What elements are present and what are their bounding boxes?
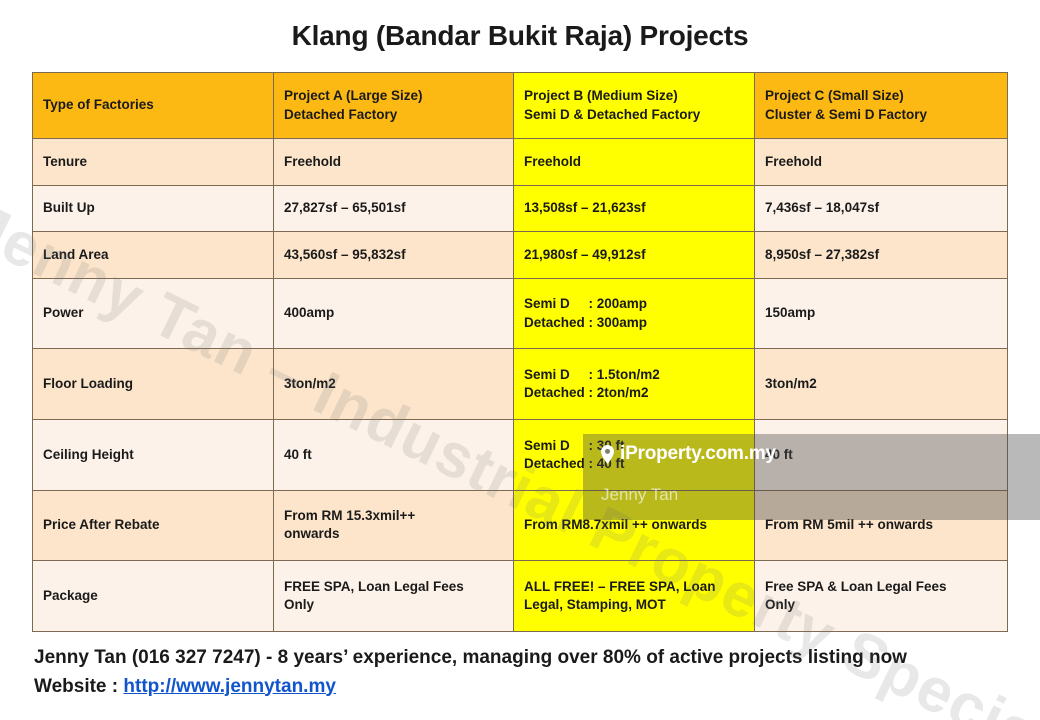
cell-tenure-project-b: Freehold bbox=[514, 139, 755, 186]
cell-line1: 27,827sf – 65,501sf bbox=[284, 199, 503, 217]
header-line2: Semi D & Detached Factory bbox=[524, 106, 744, 124]
header-line2: Cluster & Semi D Factory bbox=[765, 106, 997, 124]
cell-line1: From RM8.7xmil ++ onwards bbox=[524, 516, 744, 534]
cell-line1: Semi D : 200amp bbox=[524, 295, 744, 313]
cell-line1: 40 ft bbox=[765, 446, 997, 464]
cell-line2: onwards bbox=[284, 525, 503, 543]
cell-line1: 3ton/m2 bbox=[284, 375, 503, 393]
header-line1: Type of Factories bbox=[43, 96, 263, 114]
slide-canvas: Klang (Bandar Bukit Raja) Projects Jenny… bbox=[0, 0, 1040, 720]
row-label-ceiling-height: Ceiling Height bbox=[33, 420, 274, 491]
header-line1: Project C (Small Size) bbox=[765, 87, 997, 105]
header-cell-type: Type of Factories bbox=[33, 73, 274, 139]
table-row: Tenure Freehold Freehold Freehold bbox=[33, 139, 1008, 186]
comparison-table-wrapper: Type of Factories Project A (Large Size)… bbox=[32, 72, 1007, 632]
cell-tenure-project-c: Freehold bbox=[755, 139, 1008, 186]
cell-line2: Legal, Stamping, MOT bbox=[524, 596, 744, 614]
cell-package-project-a: FREE SPA, Loan Legal Fees Only bbox=[274, 561, 514, 632]
cell-line2: Detached : 40 ft bbox=[524, 455, 744, 473]
table-row: Floor Loading 3ton/m2 Semi D : 1.5ton/m2… bbox=[33, 349, 1008, 420]
cell-built-up-project-a: 27,827sf – 65,501sf bbox=[274, 185, 514, 232]
cell-line1: 13,508sf – 21,623sf bbox=[524, 199, 744, 217]
cell-floor-loading-project-b: Semi D : 1.5ton/m2 Detached : 2ton/m2 bbox=[514, 349, 755, 420]
footer: Jenny Tan (016 327 7247) - 8 years’ expe… bbox=[34, 644, 1024, 701]
cell-line2: Only bbox=[765, 596, 997, 614]
cell-line1: 3ton/m2 bbox=[765, 375, 997, 393]
cell-ceiling-height-project-b: Semi D : 30 ft Detached : 40 ft bbox=[514, 420, 755, 491]
cell-floor-loading-project-c: 3ton/m2 bbox=[755, 349, 1008, 420]
cell-package-project-c: Free SPA & Loan Legal Fees Only bbox=[755, 561, 1008, 632]
cell-line2: Detached : 2ton/m2 bbox=[524, 384, 744, 402]
cell-price-project-b: From RM8.7xmil ++ onwards bbox=[514, 490, 755, 561]
cell-built-up-project-c: 7,436sf – 18,047sf bbox=[755, 185, 1008, 232]
header-cell-project-a: Project A (Large Size) Detached Factory bbox=[274, 73, 514, 139]
footer-line-contact: Jenny Tan (016 327 7247) - 8 years’ expe… bbox=[34, 644, 1024, 673]
cell-line1: 400amp bbox=[284, 304, 503, 322]
website-link[interactable]: http://www.jennytan.my bbox=[123, 676, 336, 697]
cell-price-project-a: From RM 15.3xmil++ onwards bbox=[274, 490, 514, 561]
cell-line2: Detached : 300amp bbox=[524, 314, 744, 332]
cell-power-project-b: Semi D : 200amp Detached : 300amp bbox=[514, 278, 755, 349]
header-cell-project-c: Project C (Small Size) Cluster & Semi D … bbox=[755, 73, 1008, 139]
table-row: Price After Rebate From RM 15.3xmil++ on… bbox=[33, 490, 1008, 561]
row-label-floor-loading: Floor Loading bbox=[33, 349, 274, 420]
cell-line1: From RM 15.3xmil++ bbox=[284, 507, 503, 525]
table-row: Built Up 27,827sf – 65,501sf 13,508sf – … bbox=[33, 185, 1008, 232]
table-row: Ceiling Height 40 ft Semi D : 30 ft Deta… bbox=[33, 420, 1008, 491]
cell-line1: Free SPA & Loan Legal Fees bbox=[765, 578, 997, 596]
cell-line1: 21,980sf – 49,912sf bbox=[524, 246, 744, 264]
cell-power-project-c: 150amp bbox=[755, 278, 1008, 349]
row-label-package: Package bbox=[33, 561, 274, 632]
footer-line-website: Website : http://www.jennytan.my bbox=[34, 673, 1024, 702]
row-label-land-area: Land Area bbox=[33, 232, 274, 279]
header-cell-project-b: Project B (Medium Size) Semi D & Detache… bbox=[514, 73, 755, 139]
row-label-built-up: Built Up bbox=[33, 185, 274, 232]
cell-line1: Semi D : 1.5ton/m2 bbox=[524, 366, 744, 384]
cell-power-project-a: 400amp bbox=[274, 278, 514, 349]
row-label-power: Power bbox=[33, 278, 274, 349]
page-title: Klang (Bandar Bukit Raja) Projects bbox=[0, 20, 1040, 52]
cell-line1: Freehold bbox=[284, 153, 503, 171]
cell-floor-loading-project-a: 3ton/m2 bbox=[274, 349, 514, 420]
cell-line1: Freehold bbox=[524, 153, 744, 171]
cell-line1: FREE SPA, Loan Legal Fees bbox=[284, 578, 503, 596]
header-line2: Detached Factory bbox=[284, 106, 503, 124]
cell-land-area-project-b: 21,980sf – 49,912sf bbox=[514, 232, 755, 279]
cell-line1: 150amp bbox=[765, 304, 997, 322]
row-label-tenure: Tenure bbox=[33, 139, 274, 186]
cell-land-area-project-a: 43,560sf – 95,832sf bbox=[274, 232, 514, 279]
table-row: Power 400amp Semi D : 200amp Detached : … bbox=[33, 278, 1008, 349]
comparison-table: Type of Factories Project A (Large Size)… bbox=[32, 72, 1008, 632]
header-line1: Project A (Large Size) bbox=[284, 87, 503, 105]
cell-line1: Semi D : 30 ft bbox=[524, 437, 744, 455]
cell-line1: 8,950sf – 27,382sf bbox=[765, 246, 997, 264]
cell-line1: 40 ft bbox=[284, 446, 503, 464]
cell-line1: From RM 5mil ++ onwards bbox=[765, 516, 997, 534]
cell-ceiling-height-project-c: 40 ft bbox=[755, 420, 1008, 491]
website-label: Website : bbox=[34, 676, 123, 697]
row-label-price-after-rebate: Price After Rebate bbox=[33, 490, 274, 561]
cell-built-up-project-b: 13,508sf – 21,623sf bbox=[514, 185, 755, 232]
cell-tenure-project-a: Freehold bbox=[274, 139, 514, 186]
table-row: Package FREE SPA, Loan Legal Fees Only A… bbox=[33, 561, 1008, 632]
cell-line1: 7,436sf – 18,047sf bbox=[765, 199, 997, 217]
table-row: Land Area 43,560sf – 95,832sf 21,980sf –… bbox=[33, 232, 1008, 279]
table-header-row: Type of Factories Project A (Large Size)… bbox=[33, 73, 1008, 139]
cell-line1: ALL FREE! – FREE SPA, Loan bbox=[524, 578, 744, 596]
cell-line2: Only bbox=[284, 596, 503, 614]
cell-line1: Freehold bbox=[765, 153, 997, 171]
cell-package-project-b: ALL FREE! – FREE SPA, Loan Legal, Stampi… bbox=[514, 561, 755, 632]
cell-price-project-c: From RM 5mil ++ onwards bbox=[755, 490, 1008, 561]
header-line1: Project B (Medium Size) bbox=[524, 87, 744, 105]
cell-ceiling-height-project-a: 40 ft bbox=[274, 420, 514, 491]
cell-land-area-project-c: 8,950sf – 27,382sf bbox=[755, 232, 1008, 279]
cell-line1: 43,560sf – 95,832sf bbox=[284, 246, 503, 264]
